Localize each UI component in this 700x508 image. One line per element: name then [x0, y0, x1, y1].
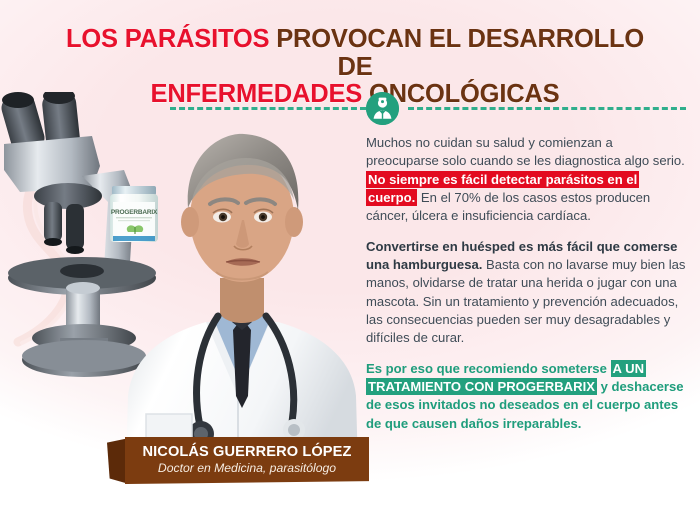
doctor-avatar-icon [366, 92, 399, 125]
doctor-role: Doctor en Medicina, parasitólogo [158, 461, 336, 476]
paragraph-3: Es por eso que recomiendo someterse A UN… [366, 360, 688, 433]
paragraph-1: Muchos no cuidan su salud y comienzan a … [366, 134, 688, 226]
p1-text-a: Muchos no cuidan su salud y comienzan a … [366, 135, 685, 168]
section-divider [366, 91, 686, 125]
promo-banner: LOS PARÁSITOS PROVOCAN EL DESARROLLO DE … [0, 0, 700, 508]
body-copy: Muchos no cuidan su salud y comienzan a … [366, 134, 688, 433]
dashed-line-right [408, 107, 686, 110]
doctor-name: NICOLÁS GUERRERO LÓPEZ [143, 444, 352, 460]
dashed-line-left [170, 107, 366, 110]
headline-line2-red: ENFERMEDADES [151, 80, 363, 108]
p3-text-a: Es por eso que recomiendo someterse [366, 361, 611, 376]
doctor-portrait-image [118, 96, 366, 468]
banner-main: NICOLÁS GUERRERO LÓPEZ Doctor en Medicin… [125, 437, 369, 484]
headline-line1-red: LOS PARÁSITOS [66, 25, 269, 53]
headline-line1-brown: PROVOCAN EL DESARROLLO DE [276, 25, 644, 81]
doctor-credit-banner: NICOLÁS GUERRERO LÓPEZ Doctor en Medicin… [107, 437, 369, 485]
paragraph-2: Convertirse en huésped es más fácil que … [366, 238, 688, 348]
